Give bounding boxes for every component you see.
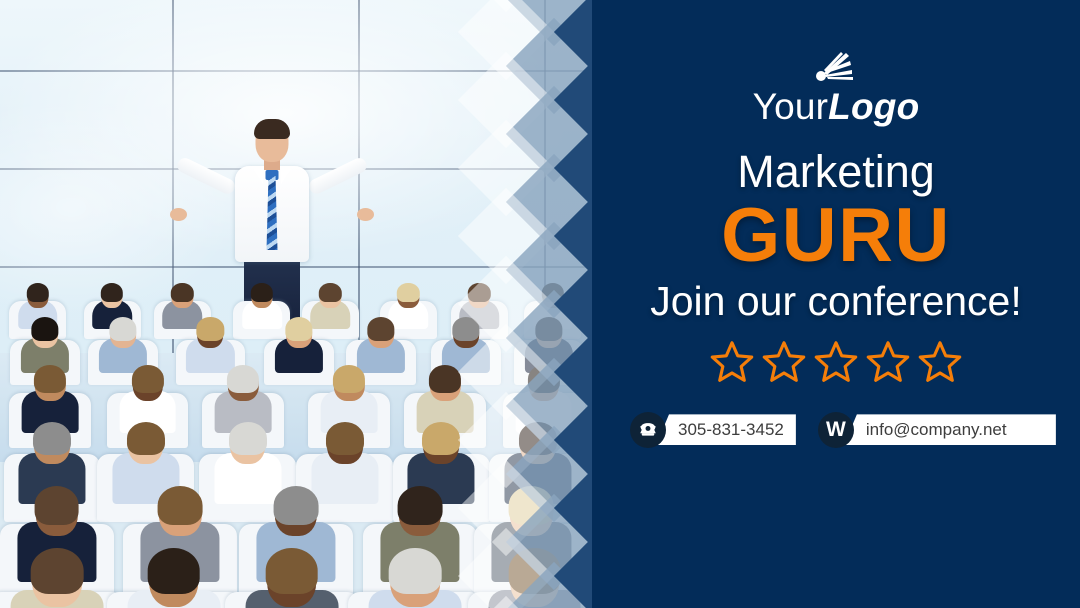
audience-hair <box>34 365 66 393</box>
email-field[interactable]: info@company.net <box>844 414 1056 445</box>
logo[interactable]: YourLogo <box>753 50 920 128</box>
audience-hair <box>158 486 203 525</box>
logo-text-bold: Logo <box>828 86 919 127</box>
star-icon[interactable] <box>710 340 754 384</box>
star-rating[interactable] <box>710 340 962 384</box>
audience-hair <box>326 422 364 455</box>
audience-hair <box>333 365 365 393</box>
audience-hair <box>131 365 163 393</box>
audience-hair <box>101 283 123 302</box>
audience-hair <box>34 486 79 525</box>
audience-hair <box>31 548 84 594</box>
audience-hair <box>397 283 419 302</box>
audience-hair <box>397 486 442 525</box>
audience-hair <box>285 317 312 341</box>
w-badge-icon: W <box>818 412 854 448</box>
headline-line-2: GURU <box>650 197 1022 275</box>
audience-hair <box>227 365 259 393</box>
phone-field[interactable]: 305-831-3452 <box>656 414 796 445</box>
headline-line-3: Join our conference! <box>650 279 1022 324</box>
audience-hair <box>429 365 461 393</box>
audience-member <box>120 546 228 608</box>
star-icon[interactable] <box>814 340 858 384</box>
headline-block: Marketing GURU Join our conference! <box>650 148 1022 324</box>
logo-text: YourLogo <box>753 86 920 128</box>
audience-hair <box>229 422 267 455</box>
speaker-hair <box>254 119 290 139</box>
audience-hair <box>32 317 59 341</box>
promo-banner: YourLogo Marketing GURU Join our confere… <box>0 0 1080 608</box>
audience-member <box>3 546 111 608</box>
telephone-icon <box>630 412 666 448</box>
audience-hair <box>368 317 395 341</box>
audience-hair <box>147 548 200 594</box>
contact-bar: 305-831-3452 W info@company.net <box>592 412 1080 448</box>
logo-text-light: Your <box>753 86 829 127</box>
audience-hair <box>319 283 341 302</box>
contact-phone[interactable]: 305-831-3452 <box>630 412 796 448</box>
audience-member <box>361 546 469 608</box>
audience-hair <box>251 283 273 302</box>
speaker-right-hand <box>357 208 374 221</box>
audience-hair <box>197 317 224 341</box>
star-icon[interactable] <box>762 340 806 384</box>
audience-hair <box>171 283 193 302</box>
audience-hair <box>274 486 319 525</box>
headline-line-1: Marketing <box>650 148 1022 195</box>
audience-hair <box>265 548 318 594</box>
star-icon[interactable] <box>918 340 962 384</box>
burst-swoosh-icon <box>812 50 860 84</box>
star-icon[interactable] <box>866 340 910 384</box>
contact-web[interactable]: W info@company.net <box>818 412 1056 448</box>
audience-hair <box>26 283 48 302</box>
audience-hair <box>109 317 136 341</box>
info-panel: YourLogo Marketing GURU Join our confere… <box>592 0 1080 608</box>
audience-hair <box>389 548 442 594</box>
audience-hair <box>422 422 460 455</box>
speaker-left-hand <box>170 208 187 221</box>
speaker-collar-left <box>252 167 263 184</box>
audience-member <box>238 546 346 608</box>
audience-hair <box>127 422 165 455</box>
audience-hair <box>33 422 71 455</box>
speaker-collar-right <box>281 167 292 184</box>
